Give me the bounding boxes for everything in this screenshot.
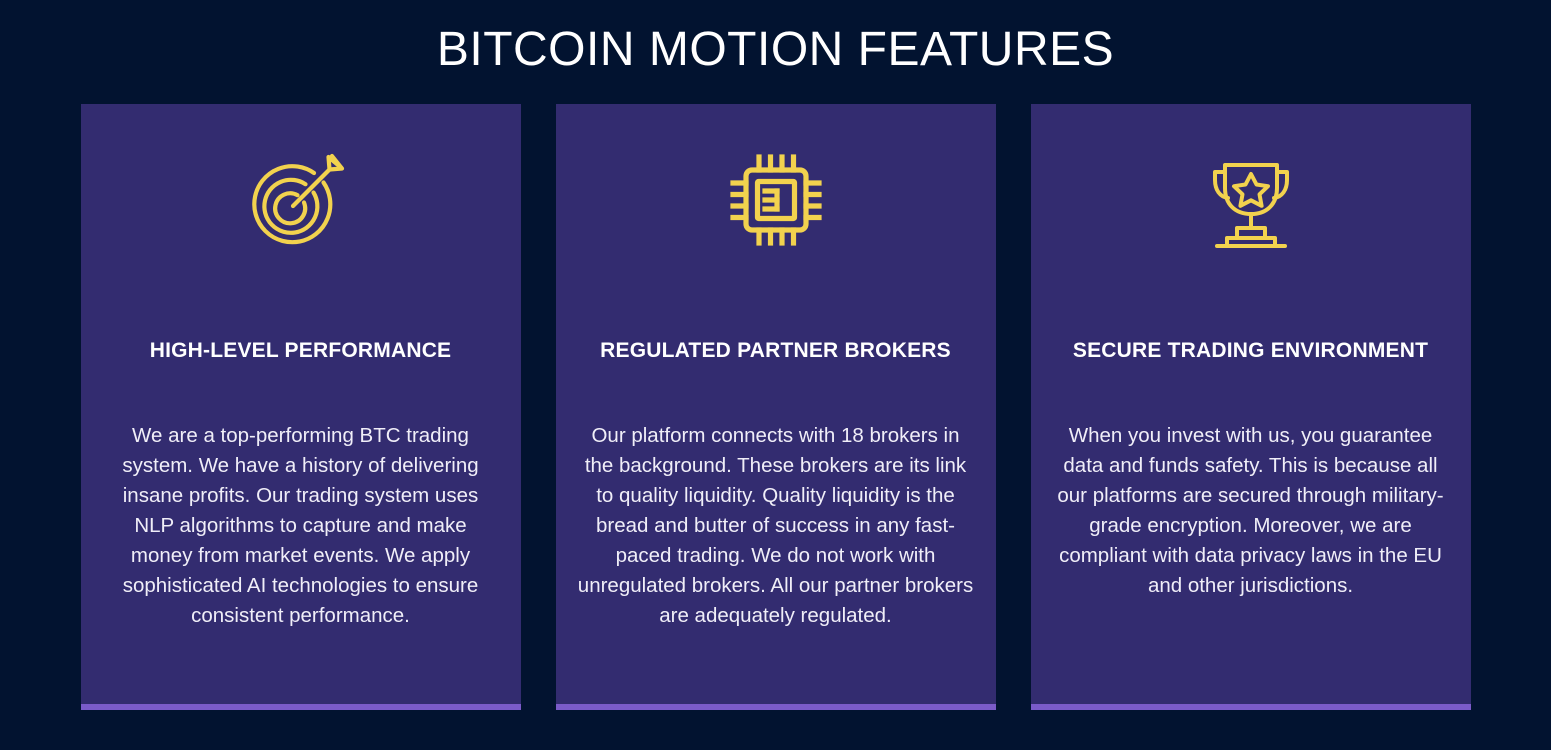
- trophy-icon: [1201, 140, 1301, 260]
- cpu-chip-icon: [724, 140, 828, 260]
- card-body-text: When you invest with us, you guarantee d…: [1045, 421, 1457, 601]
- card-body-text: Our platform connects with 18 brokers in…: [570, 421, 982, 631]
- target-arrow-icon: [249, 140, 353, 260]
- page-title: BITCOIN MOTION FEATURES: [437, 22, 1114, 77]
- feature-card-high-level-performance[interactable]: HIGH-LEVEL PERFORMANCE We are a top-perf…: [81, 104, 521, 710]
- feature-card-regulated-partner-brokers[interactable]: REGULATED PARTNER BROKERS Our platform c…: [556, 104, 996, 710]
- card-body-text: We are a top-performing BTC trading syst…: [95, 421, 507, 631]
- feature-cards-row: HIGH-LEVEL PERFORMANCE We are a top-perf…: [81, 104, 1471, 710]
- card-title: SECURE TRADING ENVIRONMENT: [1073, 339, 1428, 363]
- card-title: REGULATED PARTNER BROKERS: [600, 339, 951, 363]
- feature-card-secure-trading-environment[interactable]: SECURE TRADING ENVIRONMENT When you inve…: [1031, 104, 1471, 710]
- card-title: HIGH-LEVEL PERFORMANCE: [150, 339, 452, 363]
- features-section: BITCOIN MOTION FEATURES HIGH-LEVEL PERFO…: [0, 0, 1551, 750]
